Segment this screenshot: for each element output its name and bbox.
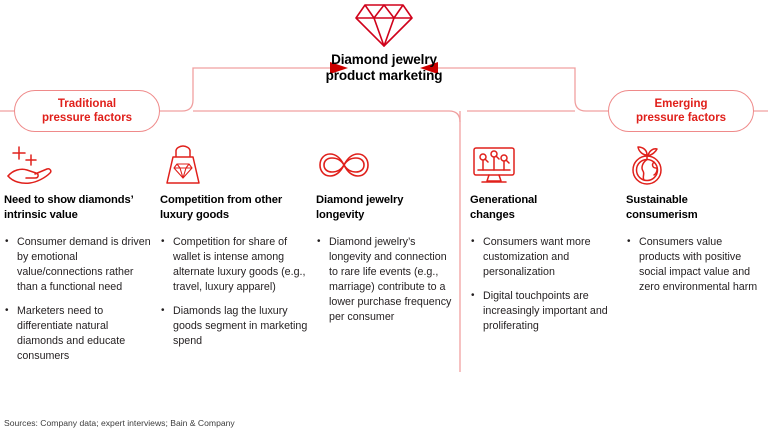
list-item: Diamond jewelry’s longevity and connecti… [316, 235, 458, 325]
column-1-bullets: Consumer demand is driven by emotional v… [4, 235, 154, 364]
list-item: Marketers need to differentiate natural … [4, 304, 154, 364]
column-2-icon-wrap [160, 144, 308, 186]
column-generational-changes: Generational changes Consumers want more… [470, 144, 618, 334]
title-line-2: product marketing [274, 68, 494, 84]
column-1-heading: Need to show diamonds’ intrinsic value [4, 193, 154, 222]
column-4-heading-line-2: changes [470, 208, 618, 223]
column-competition-from-other-luxury-goods: Competition from other luxury goods Comp… [160, 144, 308, 349]
list-item: Digital touchpoints are increasingly imp… [470, 289, 618, 334]
column-4-bullets: Consumers want more customization and pe… [470, 235, 618, 334]
column-5-heading: Sustainable consumerism [626, 193, 766, 222]
list-item: Consumer demand is driven by emotional v… [4, 235, 154, 295]
column-4-icon-wrap [470, 144, 618, 186]
diagram-title: Diamond jewelry product marketing [274, 2, 494, 85]
column-1-heading-line-1: Need to show diamonds’ [4, 193, 154, 208]
list-item: Consumers want more customization and pe… [470, 235, 618, 280]
column-3-heading-line-2: longevity [316, 208, 458, 223]
column-2-heading: Competition from other luxury goods [160, 193, 308, 222]
pill-right-line-1: Emerging [636, 97, 726, 111]
column-need-to-show-diamonds-intrinsic-value: Need to show diamonds’ intrinsic value C… [4, 144, 154, 364]
infinity-icon [316, 144, 372, 186]
column-3-heading: Diamond jewelry longevity [316, 193, 458, 222]
column-1-icon-wrap [4, 144, 154, 186]
monitor-people-icon [470, 144, 518, 186]
list-item: Diamonds lag the luxury goods segment in… [160, 304, 308, 349]
pill-traditional-pressure-factors[interactable]: Traditional pressure factors [14, 90, 160, 132]
column-5-heading-line-2: consumerism [626, 208, 766, 223]
pill-left-line-1: Traditional [42, 97, 132, 111]
column-4-heading-line-1: Generational [470, 193, 618, 208]
globe-leaf-icon [626, 144, 672, 186]
list-item: Competition for share of wallet is inten… [160, 235, 308, 295]
diamond-icon [353, 2, 415, 48]
pill-right-line-2: pressure factors [636, 111, 726, 125]
column-5-bullets: Consumers value products with positive s… [626, 235, 766, 295]
column-3-icon-wrap [316, 144, 458, 186]
column-3-heading-line-1: Diamond jewelry [316, 193, 458, 208]
column-3-bullets: Diamond jewelry’s longevity and connecti… [316, 235, 458, 325]
handbag-diamond-icon [160, 144, 206, 186]
column-2-bullets: Competition for share of wallet is inten… [160, 235, 308, 349]
column-sustainable-consumerism: Sustainable consumerism Consumers value … [626, 144, 766, 295]
hand-sparkle-icon [4, 144, 60, 186]
column-1-heading-line-2: intrinsic value [4, 208, 154, 223]
pill-emerging-pressure-factors[interactable]: Emerging pressure factors [608, 90, 754, 132]
title-line-1: Diamond jewelry [274, 52, 494, 68]
column-2-heading-line-2: luxury goods [160, 208, 308, 223]
column-5-heading-line-1: Sustainable [626, 193, 766, 208]
sources-note: Sources: Company data; expert interviews… [4, 418, 235, 428]
column-2-heading-line-1: Competition from other [160, 193, 308, 208]
column-5-icon-wrap [626, 144, 766, 186]
list-item: Consumers value products with positive s… [626, 235, 766, 295]
left-baseline-to-divider [193, 111, 460, 122]
column-4-heading: Generational changes [470, 193, 618, 222]
pill-left-line-2: pressure factors [42, 111, 132, 125]
column-diamond-jewelry-longevity: Diamond jewelry longevity Diamond jewelr… [316, 144, 458, 325]
